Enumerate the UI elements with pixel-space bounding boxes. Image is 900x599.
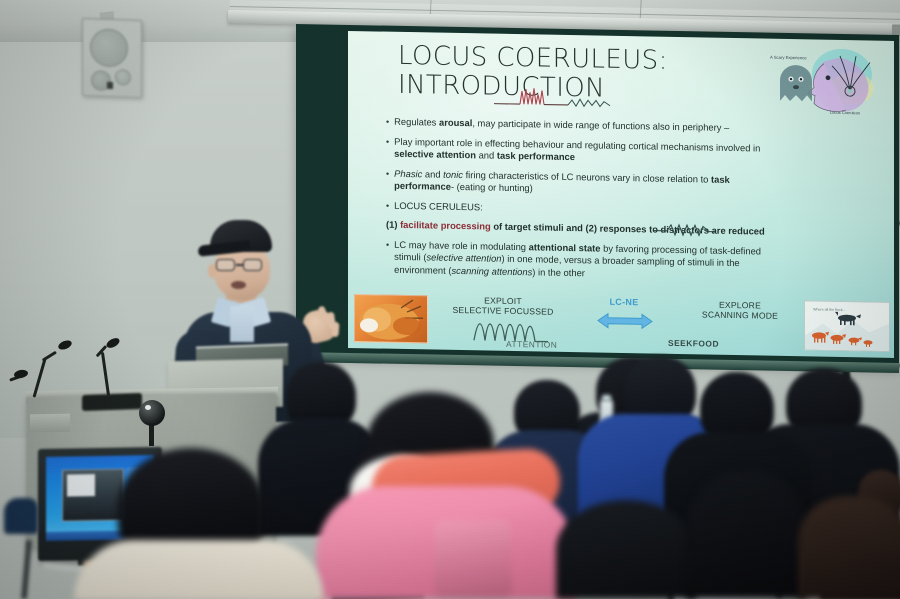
camera-stem [149,424,154,446]
presentation-slide: LOCUS COERULEUS: INTRODUCTION [348,31,894,358]
text-run: of target stimuli and (2) responses to d… [491,221,765,237]
band-photo-caption: Where all the flock... [813,307,846,312]
foreground-student-head [798,496,900,599]
chair-back [4,498,38,534]
wall-speaker [82,18,142,98]
explore-label-line-2: SCANNING MODE [678,310,802,322]
cream-coat [74,540,324,599]
tonic-waveform [653,222,715,239]
monitor-video-window [62,469,124,522]
slide-bullet: •Phasic and tonic firing characteristics… [386,167,766,199]
slide-bullet: •LOCUS CERULEUS: [386,199,766,218]
foreground-student-head [556,500,696,599]
text-run: (1) [386,219,400,230]
cartoon-ghost-label: A Scary Experience [770,55,807,61]
text-run: LC may have role in modulating [394,238,528,251]
text-run: arousal [439,117,472,129]
presenter-finger [331,322,339,337]
text-run: Phasic [394,167,422,179]
bullet-marker: • [386,135,389,160]
seekfood-sublabel: SEEKFOOD [668,338,719,349]
explore-label: EXPLORE SCANNING MODE [678,300,802,322]
wolf-deer-photo: Where all the flock... [804,300,890,352]
cartoon-lc-label: Locus Coeruleus [830,110,860,116]
lc-cartoon-illustration: A Scary Experience Locus Coeruleus [768,43,888,121]
coat-pocket [434,520,512,599]
bullet-text: Play important role in effecting behavio… [394,135,766,167]
text-run: - (eating or hunting) [451,181,533,193]
bullet-text: LC may have role in modulating attention… [394,238,766,282]
phasic-tonic-waveform [494,86,614,114]
bullet-text: LOCUS CERULEUS: [394,199,766,218]
presenter-shirt [230,306,254,342]
camera-lens-glint [145,405,151,410]
text-run: LOCUS CERULEUS: [394,199,483,212]
presenter-glasses-right [243,259,262,271]
text-run: Regulates [394,116,439,128]
projection-screen: LOCUS COERULEUS: INTRODUCTION [296,24,899,367]
bullet-text: Phasic and tonic firing characteristics … [394,167,766,199]
bullet-marker: • [386,167,389,192]
text-run: selective attention [394,148,476,160]
presenter-glasses-bridge [236,264,244,266]
podium-panel [30,414,70,433]
foreground-student-head [686,470,806,599]
lc-ne-label: LC-NE [591,296,657,307]
text-run: and [476,149,497,160]
speaker-badge [107,82,113,89]
slide-bottom-band: Where all the flock... EXPLOIT SELECTIVE… [348,286,894,358]
speaker-woofer [90,28,128,67]
slide-bullet-list: •Regulates arousal, may participate in w… [386,116,766,290]
presenter-mouth [231,281,246,289]
monitor-document-thumb [67,474,95,496]
slide-bullet: • Play important role in effecting behav… [386,135,766,167]
attention-sublabel: ATTENTION [506,339,557,350]
podium-mixer [82,393,142,411]
bullet-marker: • [386,116,389,129]
bullet-marker: • [386,199,389,212]
text-run: task performance [497,150,575,162]
slide-bullet: •LC may have role in modulating attentio… [386,238,766,282]
text-run: attentional state [529,241,601,253]
lecture-hall-photo: LOCUS COERULEUS: INTRODUCTION [0,0,900,599]
text-run: facilitate processing [400,219,491,232]
water-bottle-cap [602,395,611,401]
presenter-glasses-left [216,259,235,271]
text-run: scanning attentions [451,265,532,277]
document-camera [139,400,165,426]
bidirectional-arrow-icon [586,310,664,331]
bullet-marker: • [386,238,389,276]
lion-prey-photo [354,294,428,343]
speaker-tweeter [115,69,131,86]
text-run: ) in the other [532,266,585,278]
text-run: selective attention [426,252,501,264]
text-run: tonic [443,168,463,179]
exploit-label: EXPLOIT SELECTIVE FOCUSSED [444,296,562,318]
text-run: and [422,168,443,179]
